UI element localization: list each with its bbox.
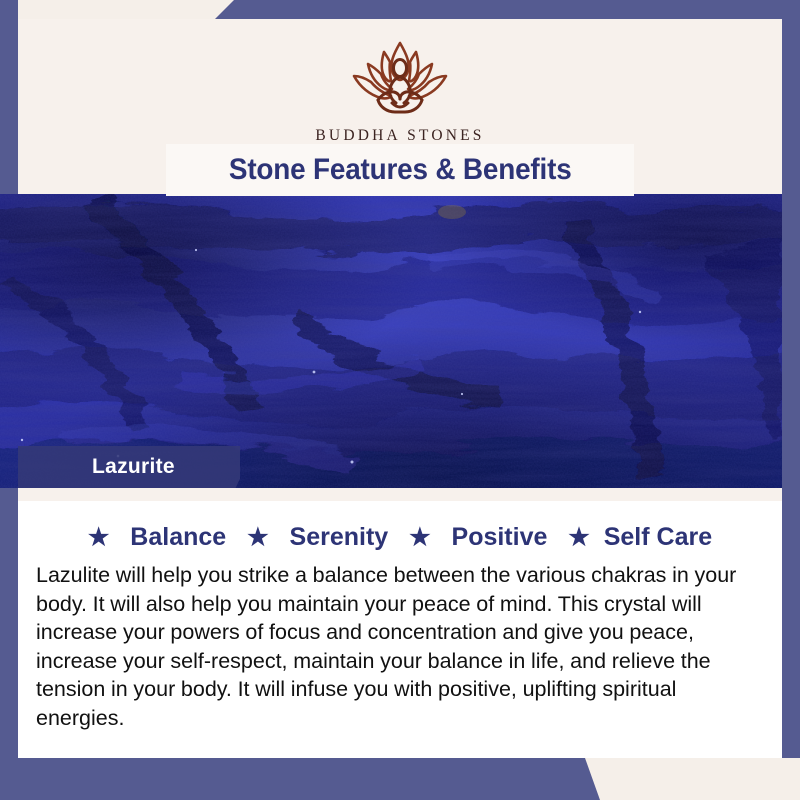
star-icon-1: ★ bbox=[247, 524, 269, 551]
top-accent-band bbox=[215, 0, 800, 19]
stone-name-band: Lazurite bbox=[18, 446, 240, 488]
description-text: Lazulite will help you strike a balance … bbox=[36, 561, 762, 733]
benefit-label-0: Balance bbox=[130, 523, 226, 551]
lotus-meditation-icon bbox=[340, 37, 460, 123]
infographic-card: BUDDHA STONES Stone Features & Benefits bbox=[0, 0, 800, 800]
benefit-label-2: Positive bbox=[452, 523, 548, 551]
page-title: Stone Features & Benefits bbox=[229, 153, 572, 187]
stone-name: Lazurite bbox=[92, 455, 175, 479]
photo-body-divider bbox=[18, 488, 782, 501]
right-accent-strip bbox=[782, 0, 800, 800]
brand-name: BUDDHA STONES bbox=[315, 127, 484, 145]
bottom-accent-band bbox=[0, 758, 600, 800]
title-banner: Stone Features & Benefits bbox=[166, 144, 634, 196]
stone-texture bbox=[0, 194, 782, 488]
brand-logo: BUDDHA STONES bbox=[18, 37, 782, 145]
description-panel: ★ Balance ★ Serenity ★ Positive ★ Self C… bbox=[18, 501, 782, 758]
benefit-label-1: Serenity bbox=[290, 523, 389, 551]
benefits-row: ★ Balance ★ Serenity ★ Positive ★ Self C… bbox=[18, 523, 782, 552]
star-icon-2: ★ bbox=[409, 524, 431, 551]
star-icon-3: ★ bbox=[568, 524, 590, 551]
benefit-label-3: Self Care bbox=[604, 523, 712, 551]
star-icon-0: ★ bbox=[88, 524, 110, 551]
stone-photo bbox=[0, 194, 782, 488]
